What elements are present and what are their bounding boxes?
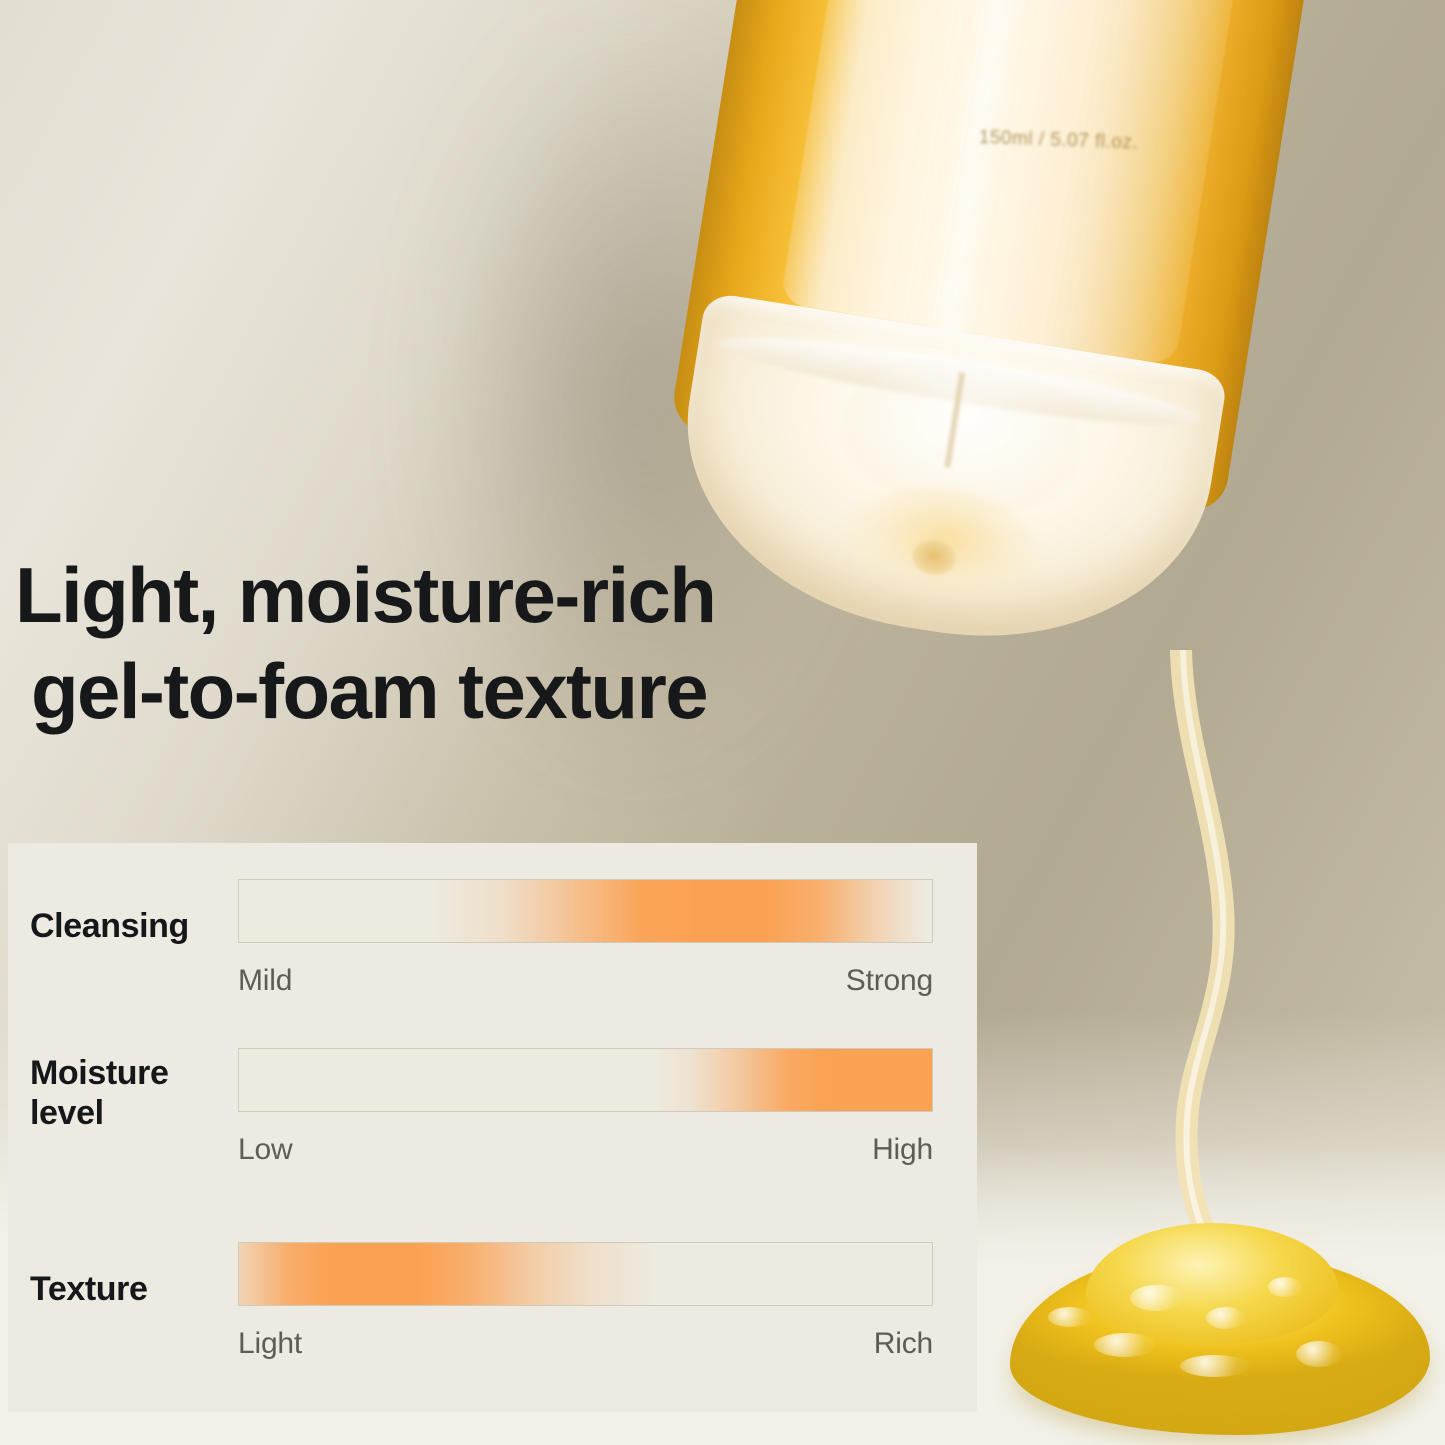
rating-bar-moisture-level (238, 1048, 933, 1112)
rating-meter-moisture-level: Low High (238, 1048, 933, 1167)
gel-bubble (1296, 1341, 1342, 1367)
gel-bubble (1268, 1277, 1302, 1297)
scale-min-cleansing: Mild (238, 964, 292, 998)
rating-bar-fill-texture (239, 1243, 932, 1305)
rating-row-texture: Texture Light Rich (30, 1242, 933, 1382)
rating-scale-texture: Light Rich (238, 1327, 933, 1361)
scale-max-moisture-level: High (872, 1133, 933, 1167)
rating-label-texture: Texture (30, 1242, 238, 1310)
headline-line-1: Light, moisture-rich (15, 551, 715, 639)
rating-label-moisture-level: Moisture level (30, 1048, 238, 1134)
rating-meter-texture: Light Rich (238, 1242, 933, 1361)
gel-stream (1136, 650, 1180, 1250)
scale-min-moisture-level: Low (238, 1133, 292, 1167)
rating-meter-cleansing: Mild Strong (238, 879, 933, 998)
headline-line-2: gel-to-foam texture (15, 644, 1005, 740)
gel-pool (1010, 1215, 1445, 1445)
gel-bubble (1206, 1307, 1246, 1329)
scale-max-texture: Rich (874, 1327, 933, 1361)
scale-max-cleansing: Strong (846, 964, 933, 998)
rating-bar-fill-moisture-level (239, 1049, 932, 1111)
rating-scale-moisture-level: Low High (238, 1133, 933, 1167)
rating-row-cleansing: Cleansing Mild Strong (30, 879, 933, 1034)
rating-row-moisture-level: Moisture level Low High (30, 1048, 933, 1227)
gel-stream-shape (1136, 650, 1256, 1270)
product-tube: for daily use 150ml / 5.07 fl.oz. (614, 0, 1371, 620)
rating-label-cleansing: Cleansing (30, 879, 238, 947)
page-title: Light, moisture-rich gel-to-foam texture (15, 548, 1005, 740)
rating-bar-texture (238, 1242, 933, 1306)
scale-min-texture: Light (238, 1327, 302, 1361)
rating-bar-fill-cleansing (239, 880, 932, 942)
gel-bubble (1048, 1307, 1092, 1327)
attribute-rating-panel: Cleansing Mild Strong Moisture level Low… (8, 843, 977, 1412)
rating-scale-cleansing: Mild Strong (238, 964, 933, 998)
gel-bubble (1130, 1285, 1184, 1311)
rating-bar-cleansing (238, 879, 933, 943)
gel-bubble (1094, 1333, 1156, 1357)
gel-bubble (1180, 1355, 1250, 1377)
